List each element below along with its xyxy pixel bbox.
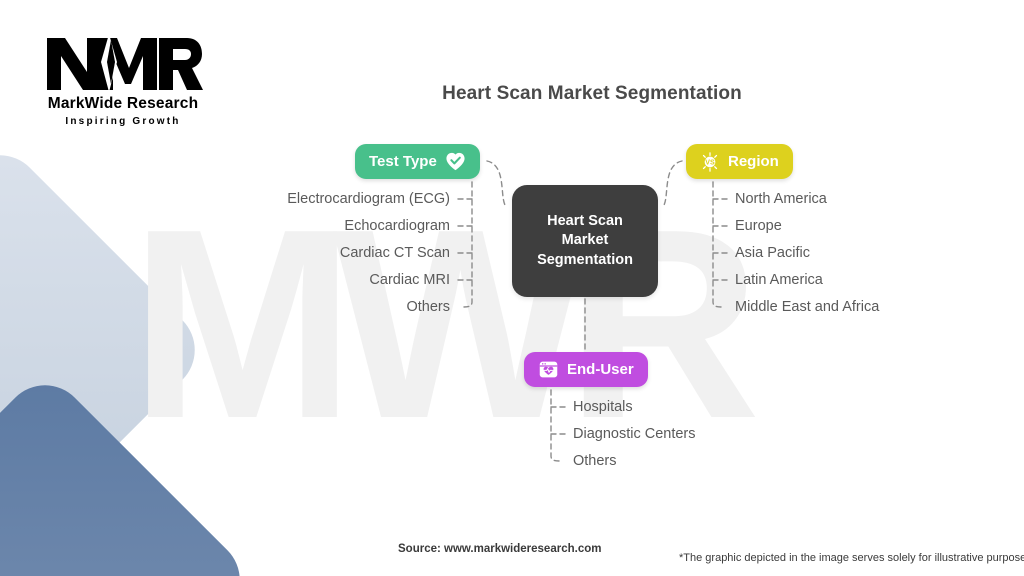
list-item-region-2: Europe [735, 219, 782, 234]
branch-label-test-type: Test Type [369, 153, 437, 170]
svg-text:VS: VS [705, 158, 715, 166]
branch-label-end-user: End-User [567, 361, 634, 378]
branch-badge-region[interactable]: VS Region [686, 144, 793, 179]
list-item-region-4: Latin America [735, 273, 823, 288]
monitor-heart-icon [538, 359, 559, 380]
sparkle-globe-icon: VS [700, 152, 720, 172]
branch-badge-test-type[interactable]: Test Type [355, 144, 480, 179]
list-item-test-type-4: Cardiac MRI [150, 273, 450, 288]
list-item-end-user-3: Others [573, 454, 617, 469]
list-item-region-3: Asia Pacific [735, 246, 810, 261]
list-item-end-user-1: Hospitals [573, 400, 633, 415]
footnote-text: *The graphic depicted in the image serve… [679, 552, 1024, 564]
list-item-region-5: Middle East and Africa [735, 300, 879, 315]
list-item-test-type-2: Echocardiogram [150, 219, 450, 234]
center-node: Heart Scan Market Segmentation [512, 185, 658, 297]
source-text: Source: www.markwideresearch.com [398, 543, 601, 555]
spine-region [713, 182, 721, 307]
list-item-test-type-3: Cardiac CT Scan [150, 246, 450, 261]
spine-test-type [464, 182, 472, 307]
list-item-end-user-2: Diagnostic Centers [573, 427, 696, 442]
branch-badge-end-user[interactable]: End-User [524, 352, 648, 387]
connector-test-type-to-center [487, 161, 505, 205]
connector-lines [0, 0, 1024, 576]
heart-icon [445, 152, 466, 171]
center-node-label: Heart Scan Market Segmentation [537, 212, 633, 269]
list-item-test-type-1: Electrocardiogram (ECG) [150, 192, 450, 207]
branch-label-region: Region [728, 153, 779, 170]
spine-end-user [551, 390, 559, 461]
connector-region-to-center [664, 161, 682, 205]
list-item-test-type-5: Others [150, 300, 450, 315]
list-item-region-1: North America [735, 192, 827, 207]
